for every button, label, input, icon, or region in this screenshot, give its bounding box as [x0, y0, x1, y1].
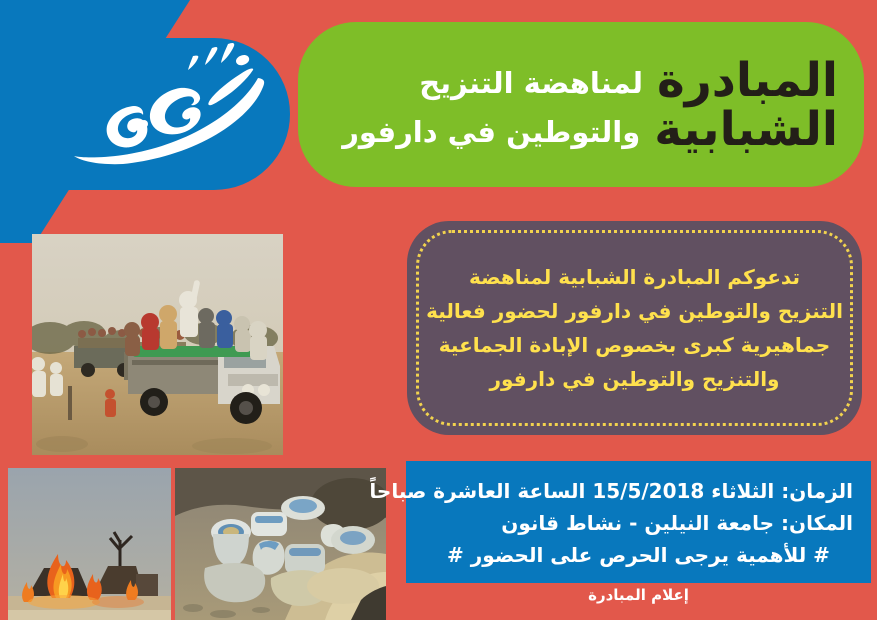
- body-text-line: جماهيرية كبرى بخصوص الإبادة الجماعية: [439, 330, 830, 361]
- burning-village-photo: [8, 468, 171, 620]
- event-time-line: الزمان: الثلاثاء 15/5/2018 الساعة العاشر…: [424, 476, 853, 506]
- body-text-line: والتنزيح والتوطين في دارفور: [490, 364, 780, 395]
- convoy-of-displaced-people-photo: [32, 234, 283, 455]
- header-line-2: الشبابية والتوطين في دارفور: [320, 106, 838, 153]
- event-place-line: المكان: جامعة النيلين - نشاط قانون: [424, 508, 853, 538]
- poster-root: المبادرة لمناهضة التنزيح الشبابية والتوط…: [0, 0, 877, 620]
- footer-credit: إعلام المبادرة: [406, 586, 871, 604]
- invitation-body-box: تدعوكم المبادرة الشبابية لمناهضة التنزيح…: [407, 221, 862, 435]
- poster-header-banner: المبادرة لمناهضة التنزيح الشبابية والتوط…: [298, 22, 864, 187]
- logo-pill-background: [40, 38, 290, 190]
- body-text-line: التنزيح والتوطين في دارفور لحضور فعالية: [426, 296, 843, 327]
- body-text-line: تدعوكم المبادرة الشبابية لمناهضة: [469, 262, 800, 293]
- looted-belongings-photo: [175, 468, 386, 620]
- event-details-box: الزمان: الثلاثاء 15/5/2018 الساعة العاشر…: [406, 461, 871, 583]
- event-hashtag-line: # للأهمية يرجى الحرص على الحضور #: [424, 540, 853, 570]
- header-subtitle-1: لمناهضة التنزيح: [419, 69, 643, 98]
- header-line-1: المبادرة لمناهضة التنزيح: [320, 57, 838, 104]
- header-title-main-2: الشبابية: [654, 106, 838, 153]
- header-subtitle-2: والتوطين في دارفور: [342, 118, 640, 147]
- header-title-main-1: المبادرة: [657, 57, 838, 104]
